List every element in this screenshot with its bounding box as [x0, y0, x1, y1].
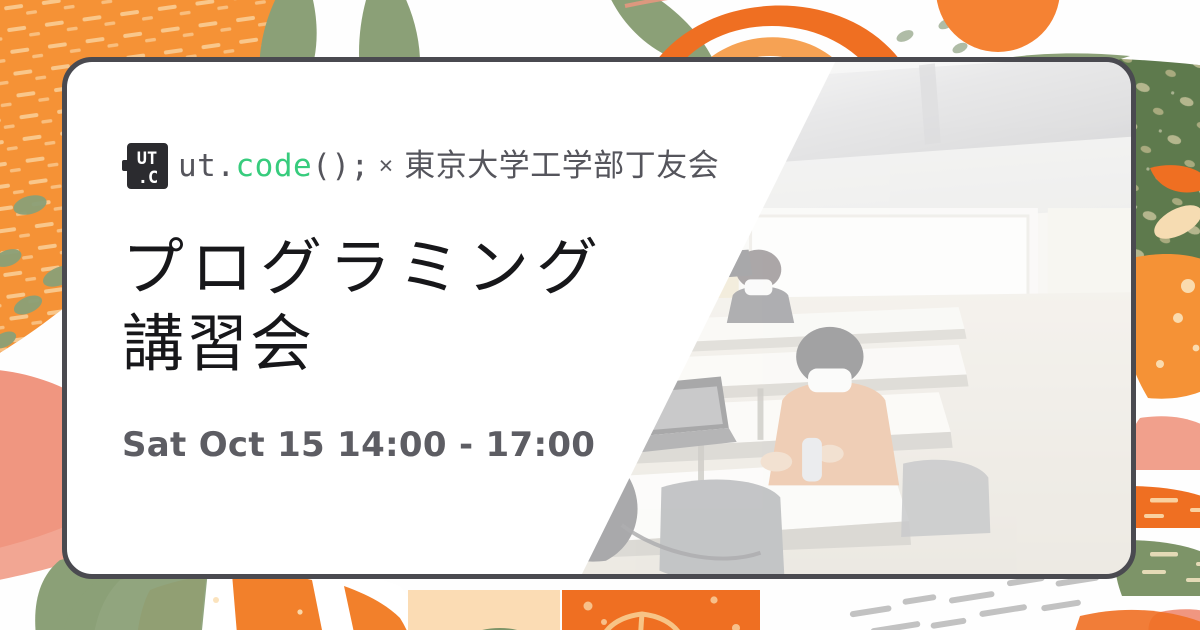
card-content: UT .C ut.code(); × 東京大学工学部丁友会 プログラミング 講習…: [122, 62, 822, 574]
brand-wordmark: ut.code();: [178, 151, 370, 182]
page-title: プログラミング 講習会: [122, 192, 822, 381]
svg-text:UT: UT: [137, 149, 157, 169]
poster-card: UT .C ut.code(); × 東京大学工学部丁友会 プログラミング 講習…: [62, 57, 1136, 579]
title-line-2: 講習会: [122, 306, 822, 382]
utcode-mark-icon: UT .C: [122, 140, 169, 192]
event-poster: UT .C ut.code(); × 東京大学工学部丁友会 プログラミング 講習…: [0, 0, 1200, 630]
brand-accent: code: [236, 148, 313, 184]
collab-separator-icon: ×: [379, 154, 394, 179]
brand-prefix: ut.: [178, 148, 236, 184]
event-datetime: Sat Oct 15 14:00 - 17:00: [122, 425, 822, 465]
organization-line: UT .C ut.code(); × 東京大学工学部丁友会: [122, 140, 822, 192]
brand-suffix: ();: [312, 148, 370, 184]
svg-text:.C: .C: [138, 168, 158, 188]
title-line-1: プログラミング: [122, 230, 822, 306]
organization-name: 東京大学工学部丁友会: [404, 151, 719, 182]
